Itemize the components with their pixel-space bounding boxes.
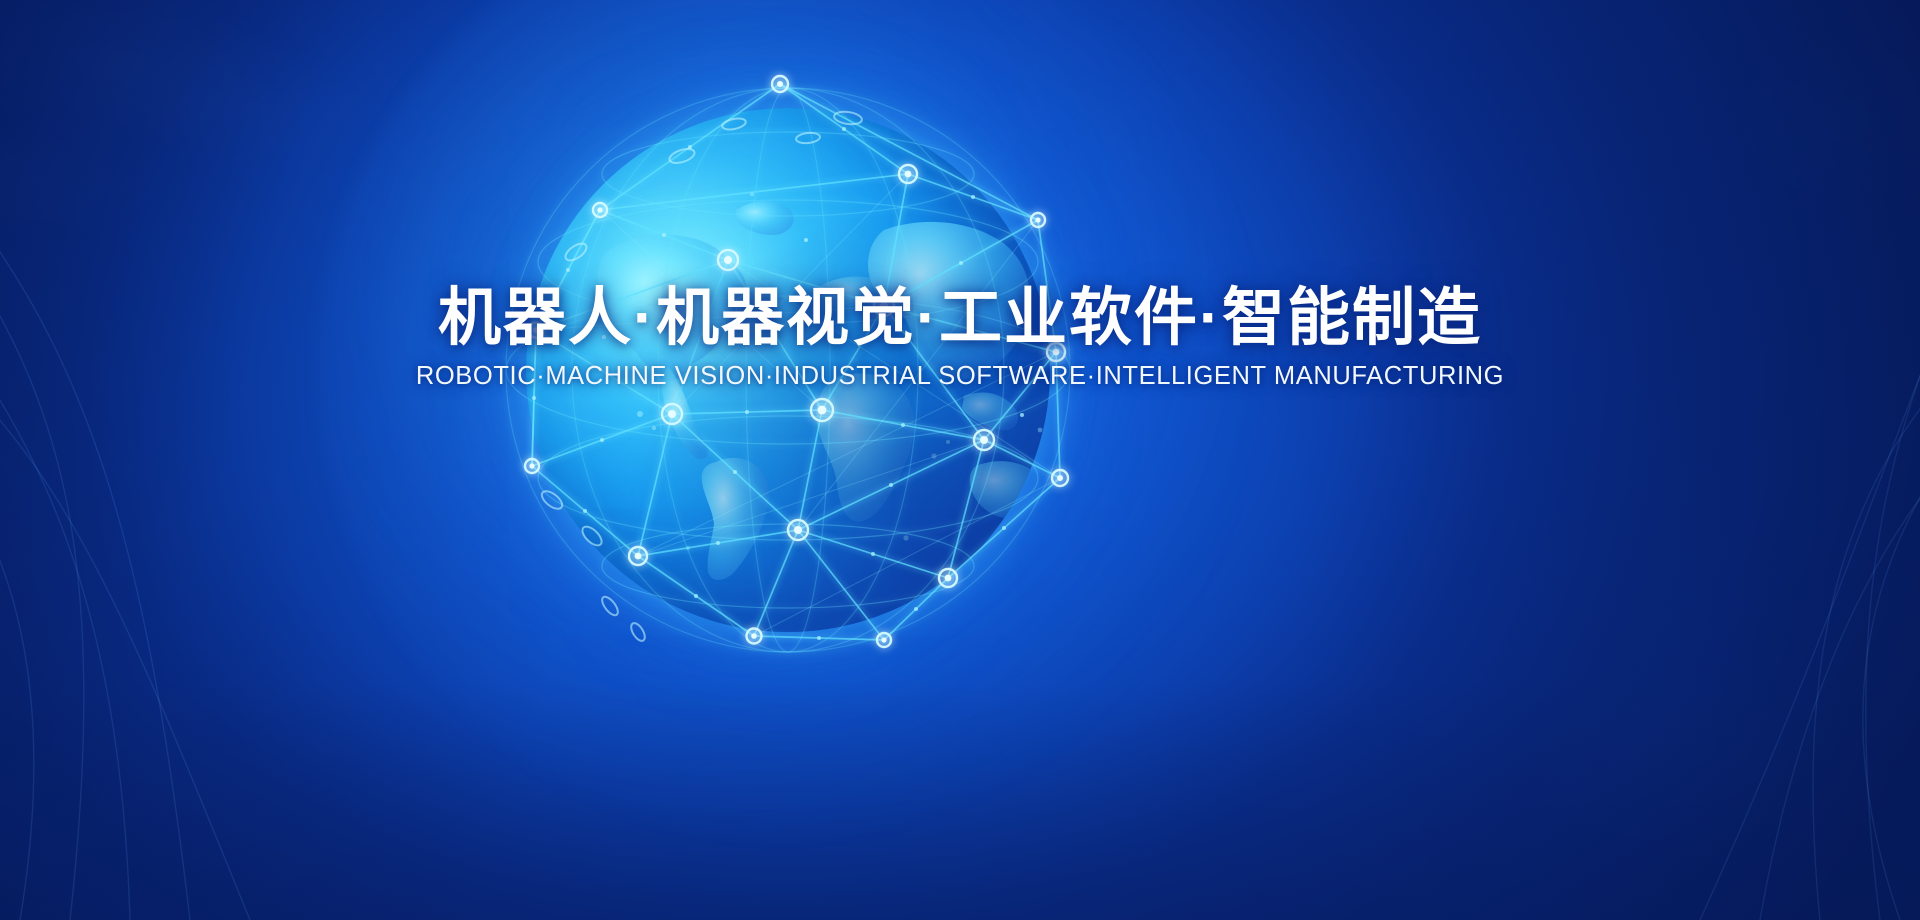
- page-subtitle: ROBOTIC·MACHINE VISION·INDUSTRIAL SOFTWA…: [0, 362, 1920, 391]
- page-title: 机器人·机器视觉·工业软件·智能制造: [0, 283, 1920, 354]
- hero-banner: 机器人·机器视觉·工业软件·智能制造 ROBOTIC·MACHINE VISIO…: [0, 0, 1920, 920]
